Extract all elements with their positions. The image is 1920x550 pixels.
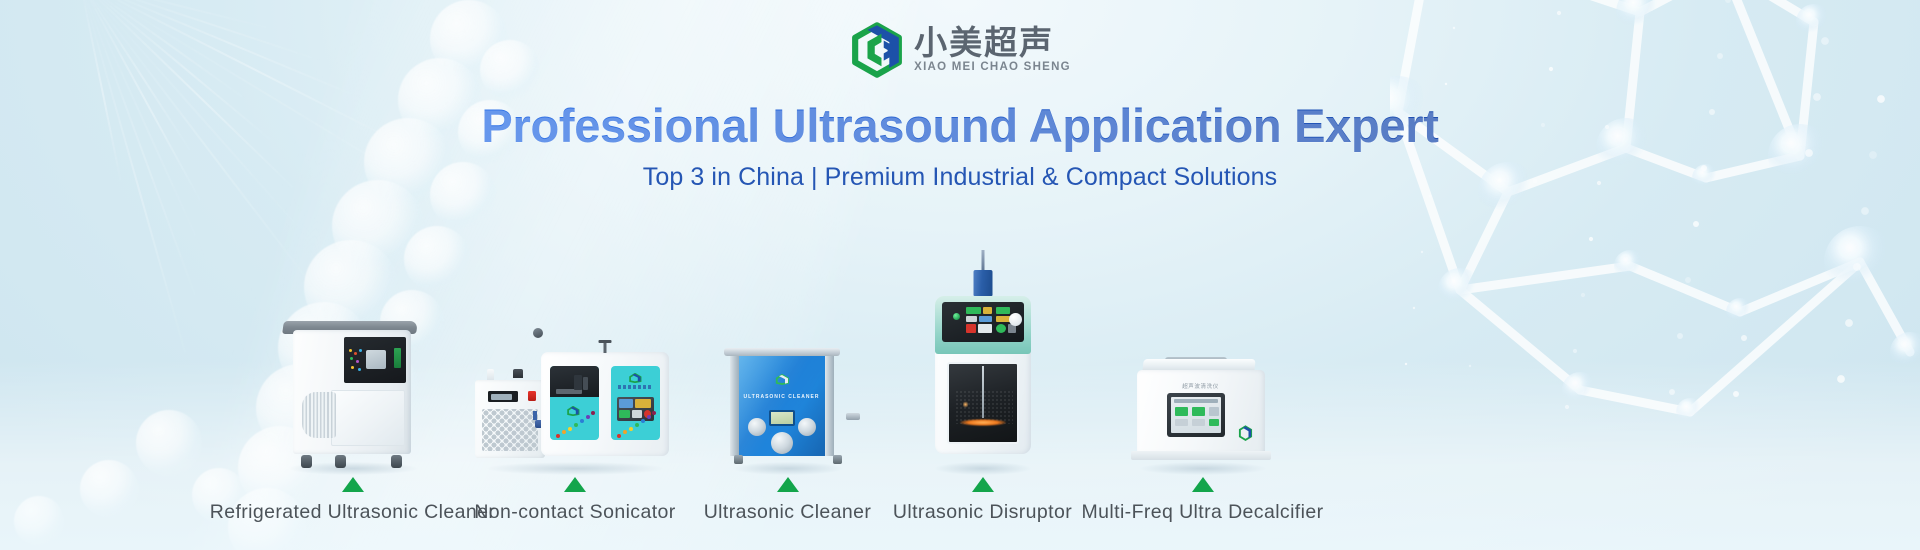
product-image-refrigerated-ultrasonic-cleaner [277,308,429,468]
triangle-up-icon [564,477,586,492]
hero-subheadline: Top 3 in China | Premium Industrial & Co… [0,163,1920,192]
triangle-up-icon [777,477,799,492]
hexagon-cube-logo-icon [849,22,905,78]
product-label: Ultrasonic Cleaner [704,501,872,524]
device-screen-text: 超声波清洗仪 [1137,382,1265,390]
brand-name-cn: 小美超声 [914,26,1054,59]
banner-header: 小美超声 XIAO MEI CHAO SHENG Professional Ul… [0,0,1920,192]
device-screen-text: ULTRASONIC CLEANER [730,394,834,400]
product-image-ultrasonic-cleaner: ULTRASONIC CLEANER [722,342,854,468]
hero-banner: 小美超声 XIAO MEI CHAO SHENG Professional Ul… [0,0,1920,550]
brand-logo[interactable]: 小美超声 XIAO MEI CHAO SHENG [0,22,1920,78]
brand-name-en: XIAO MEI CHAO SHENG [914,62,1071,74]
triangle-up-icon [342,477,364,492]
product-image-ultrasonic-disruptor [925,268,1041,468]
product-label: Non-contact Sonicator [474,501,675,524]
device-brand-logo-icon [1238,425,1253,442]
triangle-up-icon [972,477,994,492]
product-showcase: Refrigerated Ultrasonic Cleaner [0,220,1920,550]
product-image-non-contact-sonicator [475,338,675,468]
hero-headline: Professional Ultrasound Application Expe… [0,98,1920,153]
product-image-multi-freq-ultra-decalcifier: 超声波清洗仪 [1129,350,1277,468]
brand-wordmark: 小美超声 XIAO MEI CHAO SHENG [914,26,1071,74]
triangle-up-icon [1192,477,1214,492]
product-label: Multi-Freq Ultra Decalcifier [1082,501,1324,524]
product-label: Ultrasonic Disruptor [893,501,1072,524]
product-label: Refrigerated Ultrasonic Cleaner [210,501,496,524]
